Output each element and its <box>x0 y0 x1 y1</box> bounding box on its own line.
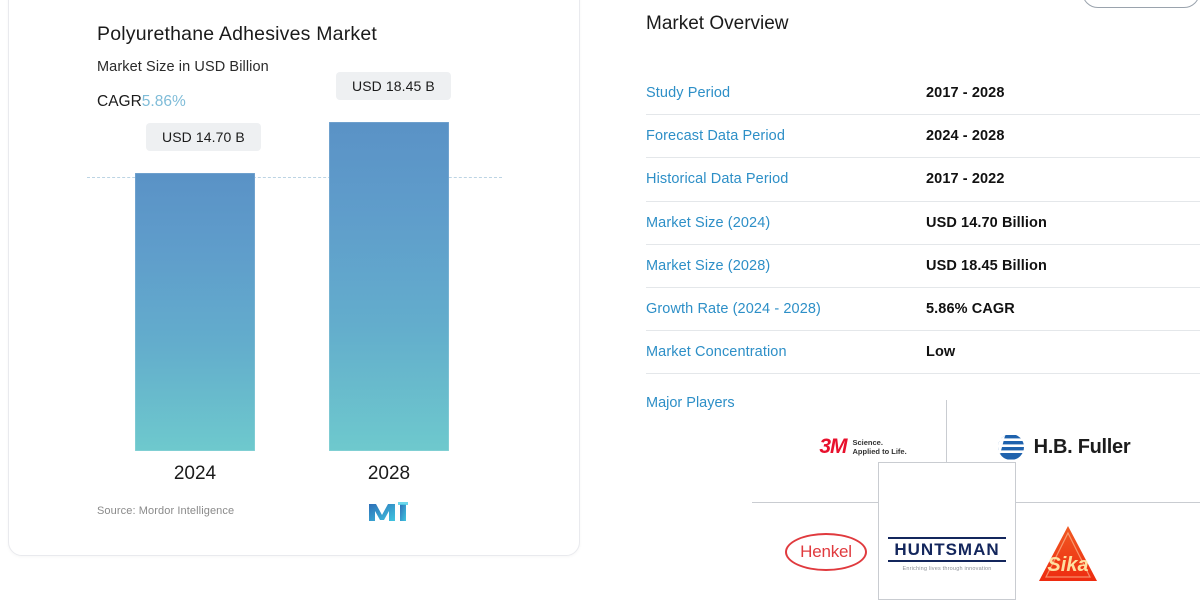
report-infographic: Polyurethane Adhesives Market Market Siz… <box>0 0 1200 600</box>
table-row: Growth Rate (2024 - 2028) 5.86% CAGR <box>646 288 1200 331</box>
3m-tagline-line2: Applied to Life. <box>853 447 907 456</box>
row-value: 2017 - 2022 <box>926 171 1005 187</box>
svg-text:Sika: Sika <box>1047 554 1088 576</box>
bar-chart-plot: USD 14.70 B USD 18.45 B 2024 2028 <box>9 0 581 557</box>
bar-2028 <box>329 122 449 451</box>
row-value: USD 18.45 Billion <box>926 258 1047 274</box>
huntsman-tagline: Enriching lives through innovation <box>902 566 991 572</box>
henkel-wordmark: Henkel <box>785 533 867 571</box>
huntsman-rule-bottom <box>888 560 1006 562</box>
row-label: Market Size (2024) <box>646 215 926 231</box>
huntsman-wordmark: HUNTSMAN <box>894 541 999 558</box>
row-label: Forecast Data Period <box>646 128 926 144</box>
x-axis-label-2024: 2024 <box>135 463 255 485</box>
table-row: Study Period 2017 - 2028 <box>646 72 1200 115</box>
x-axis-label-2028: 2028 <box>329 463 449 485</box>
row-label: Market Size (2028) <box>646 258 926 274</box>
row-label: Market Concentration <box>646 344 926 360</box>
market-size-chart-card: Polyurethane Adhesives Market Market Siz… <box>8 0 580 556</box>
bar-2024 <box>135 173 255 451</box>
table-row: Market Concentration Low <box>646 331 1200 374</box>
row-label: Study Period <box>646 85 926 101</box>
mordor-intelligence-logo-icon <box>367 499 413 525</box>
major-players-label: Major Players <box>646 395 735 411</box>
row-label: Growth Rate (2024 - 2028) <box>646 301 926 317</box>
row-value: 2017 - 2028 <box>926 85 1005 101</box>
row-value: Low <box>926 344 955 360</box>
market-overview-panel: Market Overview Study Period 2017 - 2028… <box>600 0 1200 600</box>
overview-title: Market Overview <box>646 13 789 35</box>
hb-fuller-globe-icon <box>996 432 1026 462</box>
table-row: Market Size (2028) USD 18.45 Billion <box>646 245 1200 288</box>
row-value: 5.86% CAGR <box>926 301 1015 317</box>
logo-henkel: Henkel <box>768 522 884 582</box>
hb-fuller-wordmark: H.B. Fuller <box>1034 436 1131 459</box>
logo-huntsman: HUNTSMAN Enriching lives through innovat… <box>884 528 1010 580</box>
table-row: Market Size (2024) USD 14.70 Billion <box>646 202 1200 245</box>
3m-tagline: Science. Applied to Life. <box>853 438 907 457</box>
row-value: 2024 - 2028 <box>926 128 1005 144</box>
table-row: Historical Data Period 2017 - 2022 <box>646 158 1200 201</box>
sika-triangle-icon: Sika <box>1036 523 1100 585</box>
logo-3m: 3M Science. Applied to Life. <box>788 422 938 472</box>
bar-value-label-2028: USD 18.45 B <box>336 72 451 100</box>
logo-hb-fuller: H.B. Fuller <box>958 422 1168 472</box>
logo-sika: Sika <box>1028 518 1108 590</box>
row-label: Historical Data Period <box>646 171 926 187</box>
huntsman-rule-top <box>888 537 1006 539</box>
3m-wordmark: 3M <box>819 435 846 459</box>
row-value: USD 14.70 Billion <box>926 215 1047 231</box>
top-right-rounded-notch <box>1082 0 1200 8</box>
table-row: Forecast Data Period 2024 - 2028 <box>646 115 1200 158</box>
source-text: Source: Mordor Intelligence <box>97 505 234 517</box>
major-players-logo-grid: 3M Science. Applied to Life. <box>760 400 1200 600</box>
bar-value-label-2024: USD 14.70 B <box>146 123 261 151</box>
overview-table: Study Period 2017 - 2028 Forecast Data P… <box>646 72 1200 374</box>
3m-tagline-line1: Science. <box>853 438 883 447</box>
